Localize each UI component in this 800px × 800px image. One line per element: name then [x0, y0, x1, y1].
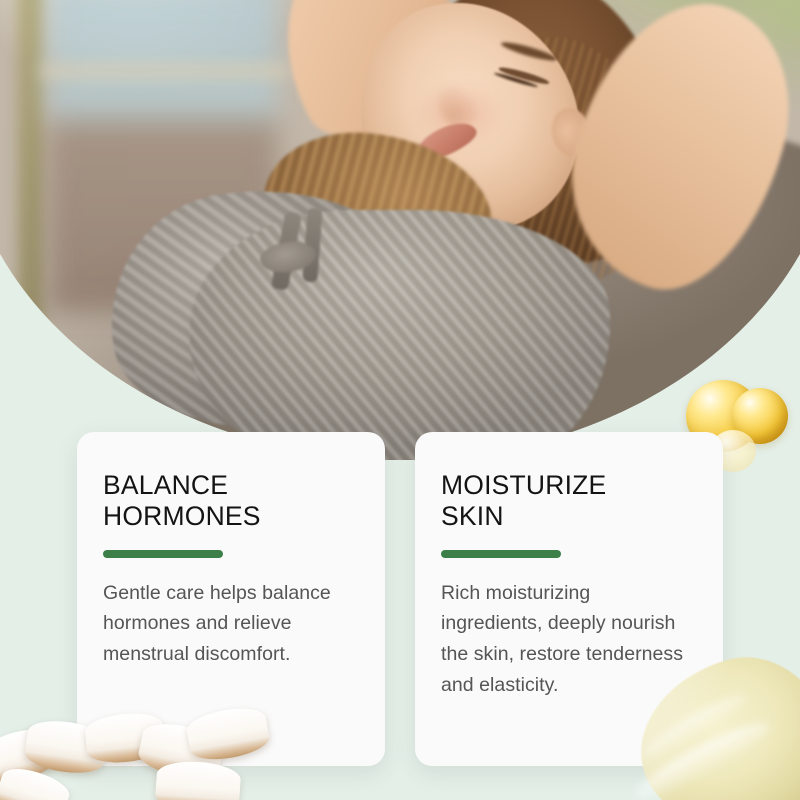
tablet-pills-decoration	[0, 676, 272, 800]
card-accent-rule	[103, 550, 223, 558]
grey-top-garment	[190, 210, 610, 460]
pill-icon	[184, 703, 271, 764]
card-body-text: Gentle care helps balance hormones and r…	[103, 578, 359, 670]
card-accent-rule	[441, 550, 561, 558]
poster-canvas: BALANCE HORMONES Gentle care helps balan…	[0, 0, 800, 800]
card-title: MOISTURIZE SKIN	[441, 470, 697, 533]
pill-icon	[154, 759, 241, 800]
card-body-text: Rich moisturizing ingredients, deeply no…	[441, 578, 697, 701]
card-title: BALANCE HORMONES	[103, 470, 359, 533]
